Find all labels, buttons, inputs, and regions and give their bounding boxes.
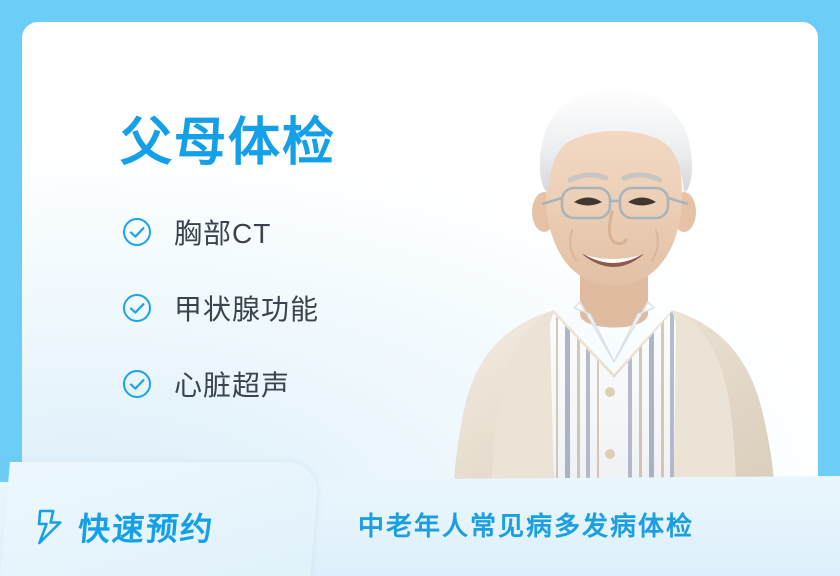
page-title: 父母体检 (120, 114, 336, 174)
list-item: 胸部CT (122, 212, 319, 252)
banner-card: 父母体检 胸部CT 甲状腺功能 (22, 22, 818, 492)
circle-check-icon (122, 369, 152, 399)
quick-book-button[interactable]: 快速预约 (0, 462, 320, 576)
elderly-man-photo (404, 62, 818, 492)
health-checkup-banner: 父母体检 胸部CT 甲状腺功能 (0, 0, 840, 576)
lightning-bolt-icon (33, 509, 66, 545)
feature-label: 甲状腺功能 (174, 288, 319, 328)
circle-check-icon (122, 293, 152, 323)
quick-book-label: 快速预约 (76, 504, 216, 550)
bottom-bar-caption: 中老年人常见病多发病体检 (358, 506, 694, 543)
quick-book-content: 快速预约 (32, 504, 216, 550)
circle-check-icon (122, 217, 152, 247)
list-item: 心脏超声 (122, 364, 319, 404)
feature-label: 胸部CT (174, 212, 271, 252)
feature-list: 胸部CT 甲状腺功能 心脏超声 (122, 212, 319, 404)
feature-label: 心脏超声 (174, 364, 290, 404)
list-item: 甲状腺功能 (122, 288, 319, 328)
